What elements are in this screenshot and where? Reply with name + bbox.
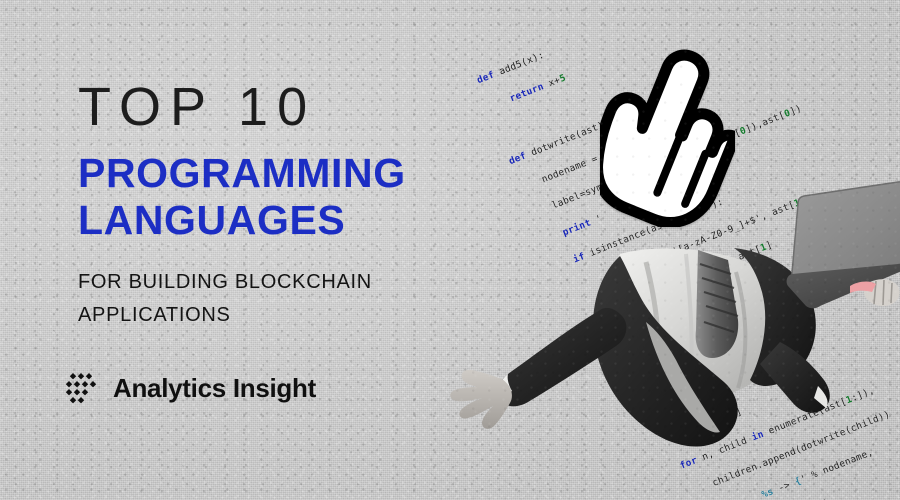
dot-grid-diamond-logo-icon: [66, 371, 102, 405]
brand-lockup[interactable]: Analytics Insight: [66, 371, 316, 405]
title-line-2: LANGUAGES: [78, 197, 458, 244]
hand-holding-laptop: [850, 279, 899, 306]
title-line-1: PROGRAMMING: [78, 150, 458, 197]
collage-artwork: def add5(x): return x+5 def dotwrite(ast…: [430, 0, 900, 500]
poster-canvas: TOP 10 PROGRAMMING LANGUAGES FOR BUILDIN…: [0, 0, 900, 500]
headline-block: TOP 10 PROGRAMMING LANGUAGES FOR BUILDIN…: [78, 78, 458, 332]
brand-name: Analytics Insight: [113, 373, 316, 404]
subtitle-line-2: APPLICATIONS: [78, 299, 458, 332]
eyebrow-top10: TOP 10: [78, 78, 458, 136]
subtitle-line-1: FOR BUILDING BLOCKCHAIN: [78, 266, 458, 299]
laptop-icon: [780, 178, 900, 313]
pointing-hand-cursor-icon[interactable]: [600, 42, 735, 227]
